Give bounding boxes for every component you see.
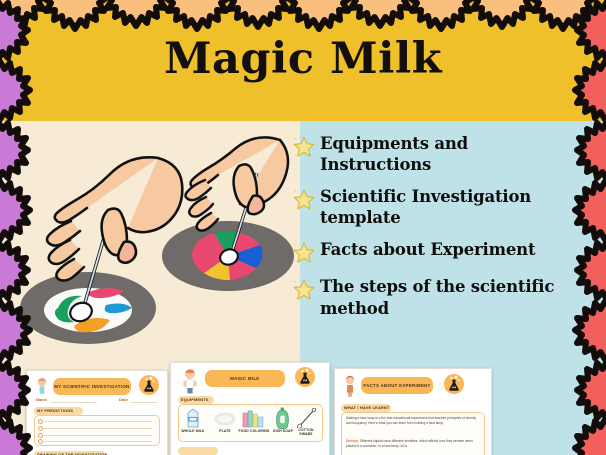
sheet-paragraph-2: Density: Different liquids have differen… [346,439,478,449]
equipment-label: PLATE [213,429,237,433]
sheet-section-label: EQUIPMENTS [178,396,214,404]
sheet-header-banner: MY SCIENTIFIC INVESTIGATION [53,378,131,395]
sheet-header-label: MAGIC MILK [205,370,285,387]
sheet-section-label: MY PREDICTIONS [34,407,83,415]
sheet-magic-milk-equipments[interactable]: MAGIC MILK E [170,362,330,455]
equipment-label: COTTON SWABS [293,428,319,437]
star-icon [292,278,316,302]
star-icon [292,241,316,265]
girl-character-icon [344,375,356,397]
paragraph-body: Different liquids have different densiti… [346,439,473,448]
title-banner: Magic Milk [0,0,606,121]
date-field-label: Date [119,398,128,402]
sheet-paragraph: Making a lava lamp is a fun and educatio… [346,416,478,426]
sheet-section-label: WHAT I HAVE LEARNT [341,404,391,412]
hands-milk-illustration [8,128,300,363]
list-item-label: Scientific Investigation template [320,186,578,228]
boy-character-icon [181,368,199,394]
sheet-scientific-investigation[interactable]: MY SCIENTIFIC INVESTIGATION [26,370,168,455]
sheet-facts-about-experiment[interactable]: FACTS ABOUT EXPERIMENT [334,368,492,455]
flask-badge [444,374,464,394]
page-title: Magic Milk [0,38,606,81]
flask-badge [139,375,159,395]
name-field-label: Name [36,398,47,402]
list-item: Scientific Investigation template [292,186,582,228]
sheet-section-label: DRAWING OF THE INVESTIGATION [34,451,106,455]
list-item-label: Equipments and Instructions [320,133,578,175]
star-icon [292,188,316,212]
paragraph-keyword: Density: [346,439,359,443]
equipment-label: WHOLE MILK [177,429,209,433]
worksheet-previews: MY SCIENTIFIC INVESTIGATION [0,360,606,455]
sheet-header-label: MY SCIENTIFIC INVESTIGATION [53,378,131,395]
sheet-header-banner: MAGIC MILK [205,370,285,387]
list-item: The steps of the scientific method [292,276,582,318]
list-item-label: The steps of the scientific method [320,276,578,318]
magic-milk-poster: Magic Milk Equipments and Instructions [0,0,606,455]
sheet-header-banner: FACTS ABOUT EXPERIMENT [361,377,433,394]
feature-list: Equipments and Instructions Scientific I… [292,133,582,330]
sheet-header-label: FACTS ABOUT EXPERIMENT [361,377,433,394]
flask-badge [295,367,315,387]
star-icon [292,135,316,159]
list-item-label: Facts about Experiment [320,239,535,260]
equipment-label: FOOD COLORING [238,429,270,433]
list-item: Equipments and Instructions [292,133,582,175]
list-item: Facts about Experiment [292,239,582,265]
